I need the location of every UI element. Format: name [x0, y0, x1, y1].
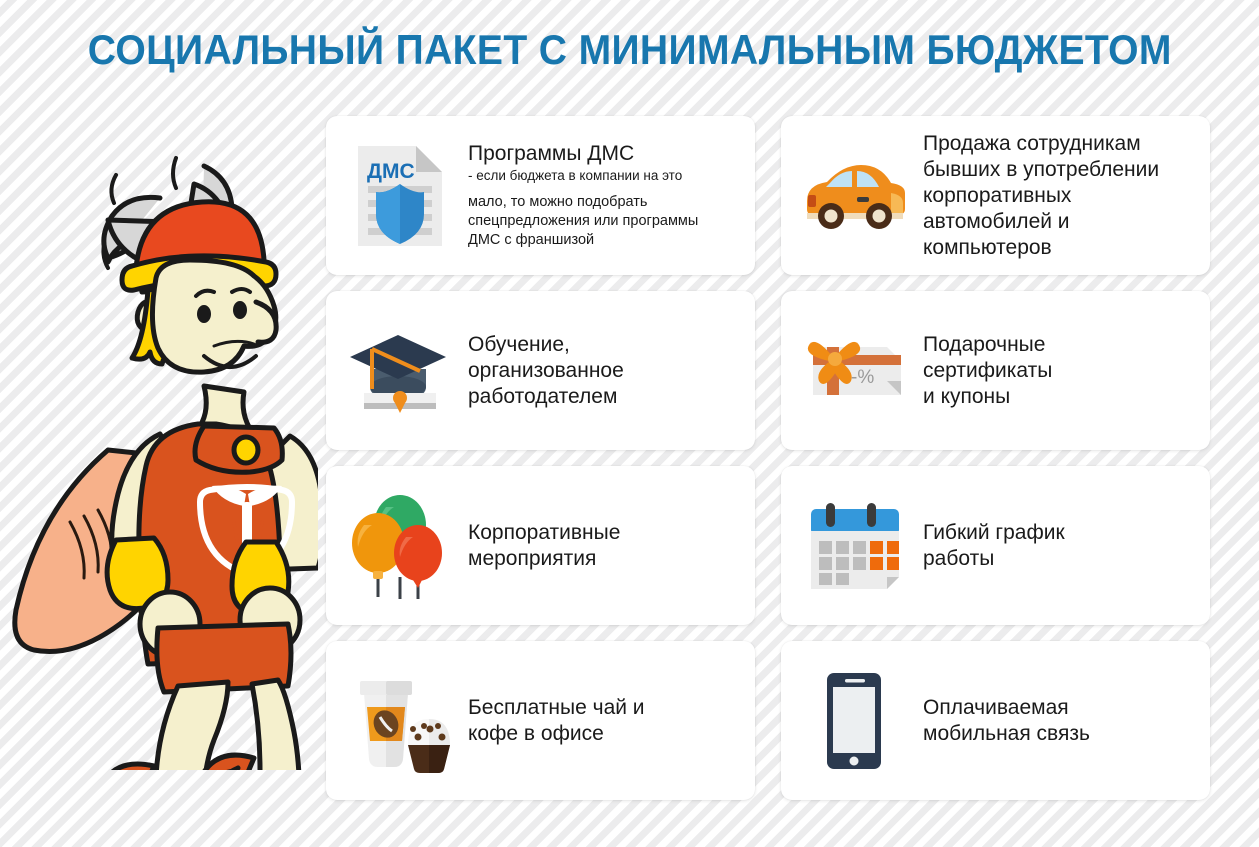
card-text-block: Корпоративные мероприятия: [456, 520, 741, 572]
card-title: Программы ДМС: [468, 141, 741, 167]
document-icon-label: ДМС: [367, 160, 415, 183]
car-icon: [799, 140, 911, 252]
card-text-block: Оплачиваемая мобильная связь: [911, 695, 1196, 747]
page-header: СОЦИАЛЬНЫЙ ПАКЕТ С МИНИМАЛЬНЫМ БЮДЖЕТОМ: [0, 0, 1259, 100]
card-gift-certificates[interactable]: -% Подарочные сертификаты и купоны: [781, 291, 1210, 450]
infographic-page: СОЦИАЛЬНЫЙ ПАКЕТ С МИНИМАЛЬНЫМ БЮДЖЕТОМ: [0, 0, 1259, 847]
card-title: Оплачиваемая мобильная связь: [923, 695, 1196, 747]
card-title: Гибкий график работы: [923, 520, 1196, 572]
card-text-block: Гибкий график работы: [911, 520, 1196, 572]
document-shield-icon: ДМС: [344, 140, 456, 252]
card-text-block: Подарочные сертификаты и купоны: [911, 332, 1196, 410]
card-corporate-events[interactable]: Корпоративные мероприятия: [326, 466, 755, 625]
card-text-block: Продажа сотрудникам бывших в употреблени…: [911, 131, 1196, 261]
gift-certificate-icon: -%: [799, 315, 911, 427]
card-employer-organized-training[interactable]: Обучение, организованное работодателем: [326, 291, 755, 450]
card-subtitle: - если бюджета в компании на это: [468, 167, 741, 185]
card-title: Продажа сотрудникам бывших в употреблени…: [923, 131, 1196, 261]
card-used-corporate-assets-sale[interactable]: Продажа сотрудникам бывших в употреблени…: [781, 116, 1210, 275]
hermes-mascot-illustration: [8, 150, 318, 770]
balloons-icon: [344, 490, 456, 602]
card-title: Обучение, организованное работодателем: [468, 332, 741, 410]
card-title: Бесплатные чай и кофе в офисе: [468, 695, 741, 747]
card-dms-programs[interactable]: ДМС Программы ДМС - если бюджета в компа…: [326, 116, 755, 275]
card-title: Подарочные сертификаты и купоны: [923, 332, 1196, 410]
smartphone-icon: [799, 665, 911, 777]
page-title: СОЦИАЛЬНЫЙ ПАКЕТ С МИНИМАЛЬНЫМ БЮДЖЕТОМ: [87, 26, 1171, 74]
card-text-block: Бесплатные чай и кофе в офисе: [456, 695, 741, 747]
card-free-tea-coffee[interactable]: Бесплатные чай и кофе в офисе: [326, 641, 755, 800]
card-title: Корпоративные мероприятия: [468, 520, 741, 572]
card-text-block: Программы ДМС - если бюджета в компании …: [456, 141, 741, 250]
card-paid-mobile[interactable]: Оплачиваемая мобильная связь: [781, 641, 1210, 800]
benefits-card-grid: ДМС Программы ДМС - если бюджета в компа…: [326, 116, 1210, 806]
coffee-cupcake-icon: [344, 665, 456, 777]
card-body: мало, то можно подобрать спецпредложения…: [468, 193, 741, 250]
certificate-discount-label: -%: [851, 367, 874, 388]
graduation-cap-icon: [344, 315, 456, 427]
calendar-icon: [799, 490, 911, 602]
card-flexible-schedule[interactable]: Гибкий график работы: [781, 466, 1210, 625]
card-text-block: Обучение, организованное работодателем: [456, 332, 741, 410]
